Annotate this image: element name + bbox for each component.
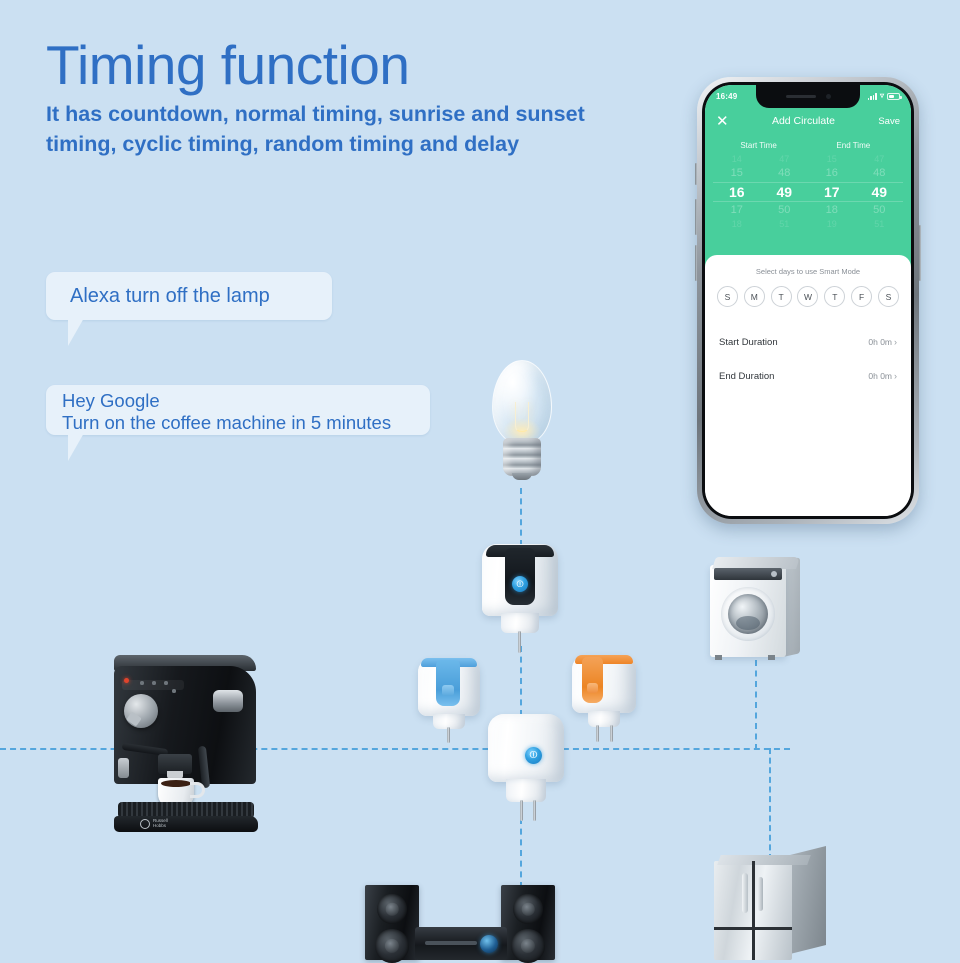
speech-bubble-google: Hey Google Turn on the coffee machine in… (46, 385, 430, 435)
plug-socket-neck (506, 779, 546, 802)
plug-pin (447, 727, 450, 743)
picker-row: 47 (761, 154, 809, 165)
start-duration-row[interactable]: Start Duration 0h 0m › (705, 325, 911, 359)
day-selector[interactable]: S M T W T F S (705, 286, 911, 307)
bulb-filament (515, 402, 529, 432)
app-title: Add Circulate (729, 115, 879, 127)
phone-bezel: 16:49 ▿ ✕ Add Circulate Save Start Time … (702, 82, 914, 519)
plug-front-face (582, 657, 603, 703)
speaker-right (501, 885, 555, 960)
subtitle-line-1: It has countdown, normal timing, sunrise… (46, 102, 585, 126)
start-time-label: Start Time (705, 141, 812, 150)
start-duration-value: 0h 0m (868, 337, 892, 347)
speaker-tweeter (377, 894, 407, 924)
coffee-machine: Russell Hobbs (100, 650, 272, 835)
brand-text: Russell Hobbs (153, 819, 168, 828)
power-button-icon[interactable]: ⏼ (512, 576, 528, 592)
day-chip-thu[interactable]: T (824, 286, 845, 307)
wifi-icon: ▿ (880, 92, 884, 100)
save-button[interactable]: Save (878, 116, 900, 127)
phone-volume-down-button[interactable] (695, 245, 697, 281)
picker-row: 17 (713, 202, 761, 219)
sheet-title: Select days to use Smart Mode (705, 255, 911, 286)
power-indicator-icon (124, 678, 129, 683)
coffee-machine-steam-knob[interactable] (213, 690, 243, 712)
stereo-receiver (415, 927, 507, 960)
washer-foot (715, 655, 722, 660)
smart-plug-orange (572, 655, 636, 745)
front-camera-icon (826, 94, 831, 99)
app-header: ✕ Add Circulate Save (705, 107, 911, 135)
plug-pin (533, 800, 536, 821)
day-chip-sun[interactable]: S (717, 286, 738, 307)
coffee-cup-handle (190, 782, 205, 798)
connector-bulb-to-plug (520, 488, 522, 546)
connector-washer (755, 660, 757, 750)
light-bulb (489, 360, 555, 490)
washer-dial-icon (771, 571, 777, 577)
bottom-sheet: Select days to use Smart Mode S M T W T … (705, 255, 911, 516)
page-subtitle: It has countdown, normal timing, sunrise… (46, 100, 686, 159)
battery-icon (887, 93, 900, 100)
control-dot-icon (140, 681, 144, 685)
chevron-right-icon: › (894, 337, 897, 347)
control-dot-icon (172, 689, 176, 693)
picker-headers: Start Time End Time (705, 135, 911, 154)
phone-power-button[interactable] (919, 225, 921, 281)
close-icon[interactable]: ✕ (716, 114, 729, 129)
picker-row: 15 (713, 165, 761, 182)
phone-mute-button[interactable] (695, 163, 697, 185)
brand-text-line-2: Hobbs (153, 823, 166, 828)
control-dot-icon (164, 681, 168, 685)
control-dot-icon (152, 681, 156, 685)
speaker-woofer (511, 929, 545, 963)
refrigerator (714, 855, 826, 960)
plug-pin (610, 725, 613, 742)
plug-socket-neck (588, 711, 620, 727)
picker-row: 14 (713, 154, 761, 165)
end-time-label: End Time (812, 141, 894, 150)
smart-plug-blue (418, 658, 480, 744)
picker-row: 18 (713, 219, 761, 230)
speaker-tweeter (513, 894, 543, 924)
status-bar-icons: ▿ (868, 92, 900, 100)
bulb-contact-tip (512, 473, 532, 480)
picker-row: 48 (856, 165, 904, 182)
cellular-signal-icon (868, 93, 877, 100)
power-button-icon[interactable] (442, 685, 454, 696)
fridge-door-handle[interactable] (742, 873, 748, 913)
speech-bubble-alexa: Alexa turn off the lamp (46, 272, 332, 320)
speech-bubble-tail (68, 318, 84, 346)
app-green-panel: 16:49 ▿ ✕ Add Circulate Save Start Time … (705, 85, 911, 268)
speaker-left (365, 885, 419, 960)
coffee-machine-group-head (158, 754, 192, 774)
subtitle-line-2: timing, cyclic timing, random timing and… (46, 130, 686, 160)
smart-plug-white: ⏼ (488, 714, 564, 822)
connector-white-plug-to-stereo (520, 818, 522, 888)
washer-side-panel (784, 557, 800, 656)
time-picker[interactable]: 14 15 16 17 18 47 48 49 50 51 15 (705, 154, 911, 230)
picker-row: 16 (808, 165, 856, 182)
washer-control-panel (714, 568, 782, 580)
smartphone-mockup: 16:49 ▿ ✕ Add Circulate Save Start Time … (697, 77, 919, 524)
bulb-screw-base (503, 438, 541, 476)
speech-bubble-alexa-text: Alexa turn off the lamp (70, 285, 270, 308)
coffee-machine-brand-logo: Russell Hobbs (140, 818, 180, 829)
end-duration-label: End Duration (719, 371, 774, 382)
washer-door-glass (728, 594, 768, 634)
phone-notch (756, 85, 860, 108)
chevron-right-icon: › (894, 371, 897, 381)
speech-bubble-google-line-1: Hey Google (62, 390, 430, 412)
day-chip-tue[interactable]: T (771, 286, 792, 307)
fridge-vertical-divider (752, 861, 755, 960)
disc-slot[interactable] (425, 941, 477, 945)
picker-row: 48 (761, 165, 809, 182)
picker-row: 51 (761, 219, 809, 230)
phone-screen: 16:49 ▿ ✕ Add Circulate Save Start Time … (705, 85, 911, 516)
plug-pin (518, 631, 521, 653)
start-duration-label: Start Duration (719, 337, 778, 348)
day-chip-wed[interactable]: W (797, 286, 818, 307)
page-title: Timing function (46, 38, 409, 93)
end-duration-row[interactable]: End Duration 0h 0m › (705, 359, 911, 393)
end-duration-value-group: 0h 0m › (868, 371, 897, 381)
brand-mark-icon (140, 819, 150, 829)
picker-row: 51 (856, 219, 904, 230)
power-button-icon[interactable] (587, 683, 598, 693)
speech-bubble-tail (68, 433, 84, 461)
plug-pin (520, 800, 523, 821)
plug-front-face (436, 660, 460, 706)
plug-pin (596, 725, 599, 742)
picker-row: 50 (856, 202, 904, 219)
smart-plug-dark: ⏼ (482, 544, 558, 646)
plug-body (488, 714, 564, 782)
coffee-machine-selector-knob[interactable] (124, 694, 158, 728)
connector-fridge (769, 748, 771, 860)
picker-row: 18 (808, 202, 856, 219)
washer-foot (768, 655, 775, 660)
fridge-door-handle[interactable] (758, 877, 763, 911)
phone-volume-up-button[interactable] (695, 199, 697, 235)
status-bar-time: 16:49 (716, 92, 737, 101)
day-chip-mon[interactable]: M (744, 286, 765, 307)
coffee-machine-wand-tip (118, 758, 129, 778)
connector-plug-to-white-plug (520, 646, 522, 716)
plug-socket-neck (501, 613, 539, 633)
picker-row: 50 (761, 202, 809, 219)
picker-row: 19 (808, 219, 856, 230)
start-duration-value-group: 0h 0m › (868, 337, 897, 347)
end-duration-value: 0h 0m (868, 371, 892, 381)
volume-dial-icon[interactable] (480, 935, 498, 953)
fridge-horizontal-divider (714, 927, 792, 930)
stereo-system (365, 885, 555, 960)
washing-machine (710, 557, 800, 662)
day-chip-fri[interactable]: F (851, 286, 872, 307)
picker-selection-band (713, 182, 903, 202)
speech-bubble-google-line-2: Turn on the coffee machine in 5 minutes (62, 412, 430, 434)
picker-row: 15 (808, 154, 856, 165)
coffee-machine-base (114, 816, 258, 832)
picker-row: 47 (856, 154, 904, 165)
day-chip-sat[interactable]: S (878, 286, 899, 307)
fridge-top-panel (717, 855, 811, 865)
speaker-woofer (375, 929, 409, 963)
earpiece-speaker-icon (786, 95, 816, 98)
power-button-icon[interactable]: ⏼ (525, 747, 542, 764)
